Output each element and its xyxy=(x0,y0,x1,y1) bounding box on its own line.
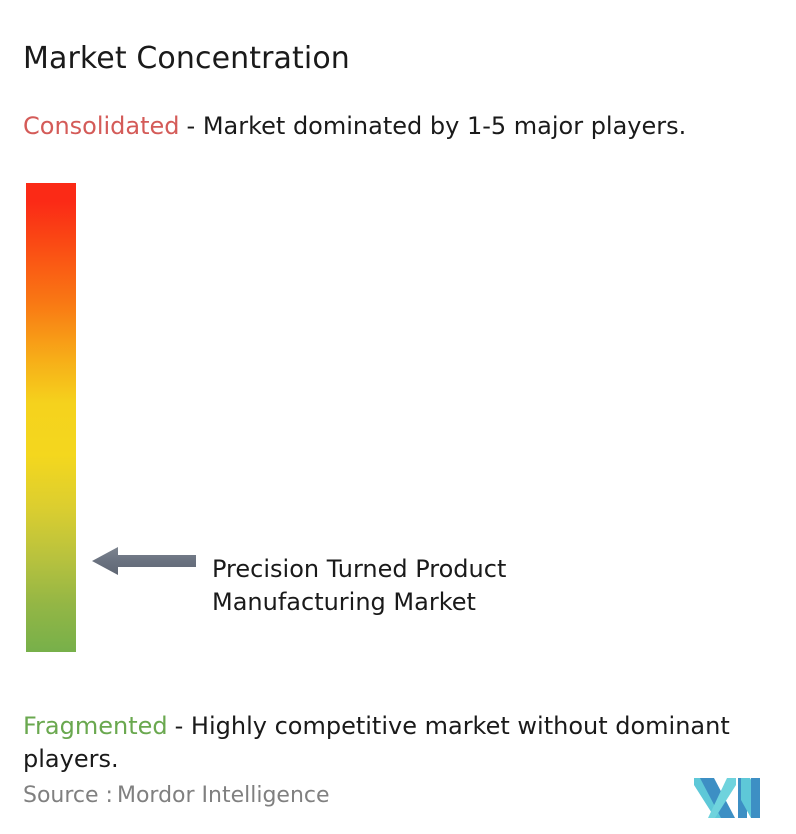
page-title: Market Concentration xyxy=(23,40,350,78)
mordor-intelligence-logo-icon xyxy=(694,772,760,818)
source-attribution: Source :Mordor Intelligence xyxy=(23,781,330,811)
source-value: Mordor Intelligence xyxy=(117,783,330,808)
source-label: Source : xyxy=(23,783,113,808)
consolidated-description: Consolidated- Market dominated by 1-5 ma… xyxy=(23,110,775,143)
fragmented-description: Fragmented- Highly competitive market wi… xyxy=(23,710,788,776)
market-concentration-figure: Market Concentration Consolidated- Marke… xyxy=(0,0,796,834)
concentration-gradient-scale xyxy=(26,183,76,652)
consolidated-term: Consolidated xyxy=(23,112,180,140)
fragmented-term: Fragmented xyxy=(23,712,168,740)
left-arrow-icon xyxy=(92,545,196,577)
market-label: Precision Turned Product Manufacturing M… xyxy=(212,553,642,619)
consolidated-description-text: - Market dominated by 1-5 major players. xyxy=(187,112,687,140)
